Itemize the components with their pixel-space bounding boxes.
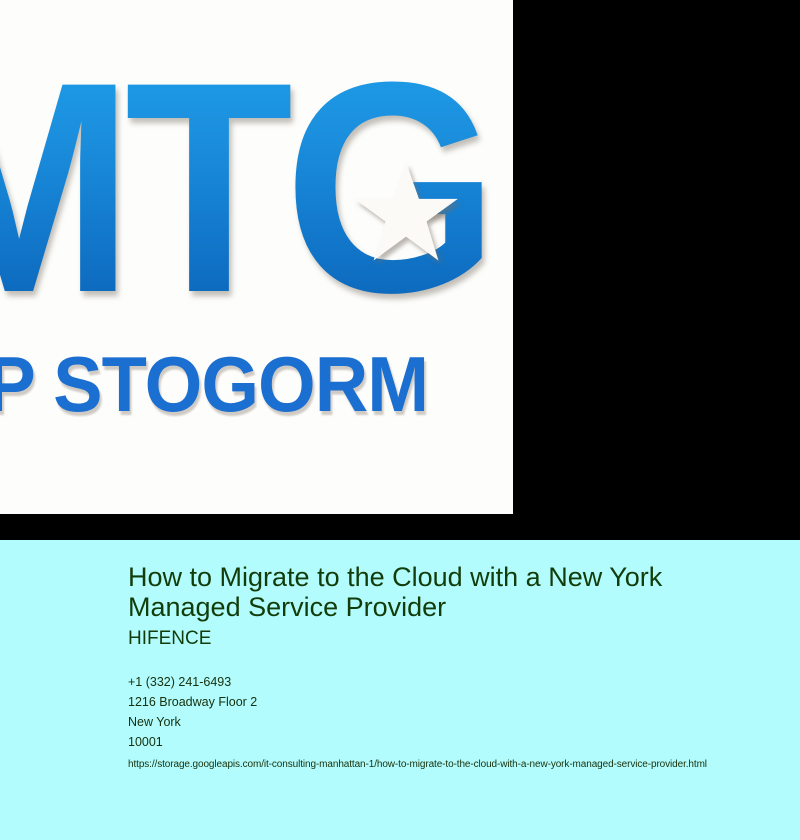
contact-city: New York [128, 712, 788, 732]
info-content: How to Migrate to the Cloud with a New Y… [128, 562, 788, 772]
info-panel: How to Migrate to the Cloud with a New Y… [0, 540, 800, 840]
contact-postal-code: 10001 [128, 732, 788, 752]
contact-phone[interactable]: +1 (332) 241-6493 [128, 672, 788, 692]
brand-name: HIFENCE [128, 628, 788, 650]
page-root: MTG MIP STOGORM How to Migrate to the Cl… [0, 0, 800, 840]
source-url-link[interactable]: https://storage.googleapis.com/it-consul… [128, 758, 788, 772]
hero-banner: MTG MIP STOGORM [0, 0, 800, 540]
contact-street: 1216 Broadway Floor 2 [128, 692, 788, 712]
page-title: How to Migrate to the Cloud with a New Y… [128, 562, 728, 622]
logo-tagline: MIP STOGORM [0, 342, 513, 426]
logo-artwork: MTG MIP STOGORM [0, 0, 513, 514]
star-icon [352, 160, 460, 268]
contact-block: +1 (332) 241-6493 1216 Broadway Floor 2 … [128, 672, 788, 752]
logo-image: MTG MIP STOGORM [0, 0, 513, 514]
